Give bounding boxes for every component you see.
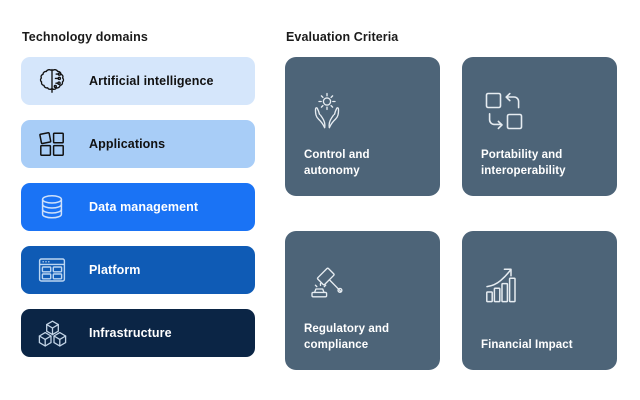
technology-domain-list: Artificial intelligence Applications Dat… xyxy=(21,57,255,372)
domain-item-infrastructure[interactable]: Infrastructure xyxy=(21,309,255,357)
criteria-label: Financial Impact xyxy=(481,338,605,353)
criteria-label: Regulatory and compliance xyxy=(304,322,428,353)
database-icon xyxy=(33,188,71,226)
criteria-card-regulatory-and-compliance[interactable]: Regulatory and compliance xyxy=(285,231,440,370)
cubes-icon xyxy=(33,314,71,352)
brain-icon xyxy=(33,62,71,100)
app-squares-icon xyxy=(33,125,71,163)
domain-item-platform[interactable]: Platform xyxy=(21,246,255,294)
gavel-icon xyxy=(304,262,350,308)
criteria-label: Control and autonomy xyxy=(304,148,428,179)
technology-domains-heading: Technology domains xyxy=(22,30,148,44)
criteria-card-portability-and-interoperability[interactable]: Portability and interoperability xyxy=(462,57,617,196)
evaluation-criteria-grid: Control and autonomy Portability and int… xyxy=(285,57,621,370)
growth-bar-chart-icon xyxy=(481,262,527,308)
swap-squares-icon xyxy=(481,88,527,134)
criteria-card-financial-impact[interactable]: Financial Impact xyxy=(462,231,617,370)
domain-item-data-management[interactable]: Data management xyxy=(21,183,255,231)
gear-in-hands-icon xyxy=(304,88,350,134)
criteria-label: Portability and interoperability xyxy=(481,148,605,179)
evaluation-criteria-heading: Evaluation Criteria xyxy=(286,30,398,44)
domain-label: Applications xyxy=(89,137,165,151)
domain-label: Artificial intelligence xyxy=(89,74,214,88)
domain-label: Data management xyxy=(89,200,198,214)
domain-item-applications[interactable]: Applications xyxy=(21,120,255,168)
criteria-card-control-and-autonomy[interactable]: Control and autonomy xyxy=(285,57,440,196)
domain-label: Infrastructure xyxy=(89,326,172,340)
domain-label: Platform xyxy=(89,263,141,277)
domain-item-artificial-intelligence[interactable]: Artificial intelligence xyxy=(21,57,255,105)
dashboard-window-icon xyxy=(33,251,71,289)
